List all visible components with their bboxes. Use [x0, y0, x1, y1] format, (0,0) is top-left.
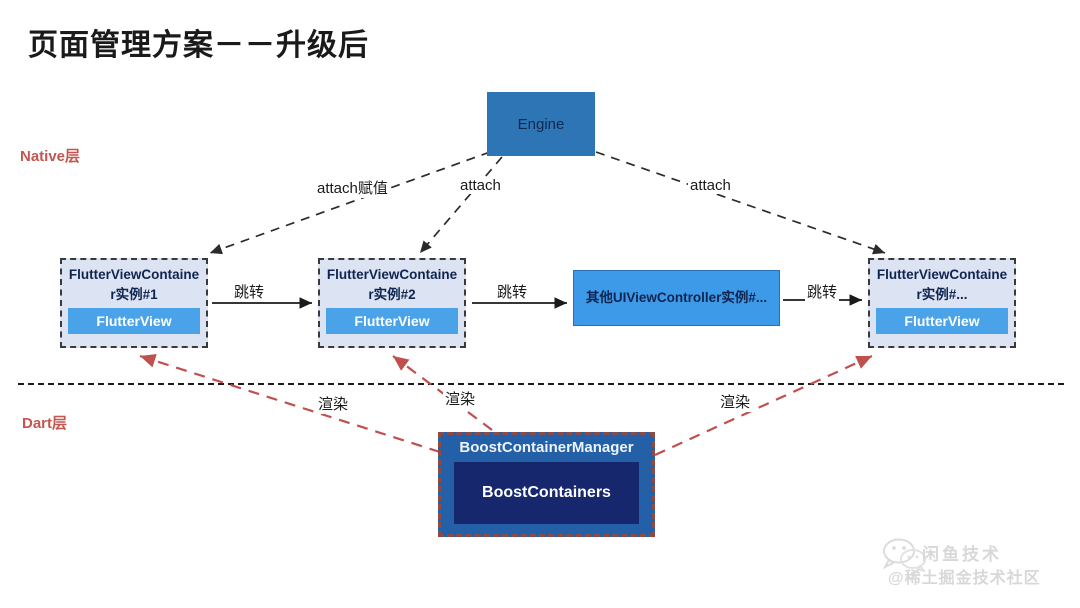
- watermark-line-1: 闲鱼技术: [922, 540, 1002, 565]
- node-flutterview-n[interactable]: FlutterView: [876, 308, 1008, 334]
- node-engine-label: Engine: [518, 116, 565, 133]
- watermark: 闲鱼技术 @稀土掘金技术社区: [880, 536, 1070, 598]
- node-engine[interactable]: Engine: [487, 92, 595, 156]
- node-boost-containers[interactable]: BoostContainers: [454, 462, 639, 524]
- edge-render-left: [140, 356, 440, 452]
- edge-attach-mid: [420, 157, 502, 253]
- node-flutterview-2[interactable]: FlutterView: [326, 308, 458, 334]
- page-title: 页面管理方案－－升级后: [28, 20, 369, 64]
- node-flutterview-container-1-title: FlutterViewContainer实例#1: [67, 265, 201, 304]
- node-flutterview-container-n-title: FlutterViewContainer实例#...: [875, 265, 1009, 304]
- edge-label-attach-right: attach: [688, 177, 733, 194]
- edge-label-jump-2: 跳转: [495, 281, 529, 302]
- edge-label-render-right: 渲染: [718, 391, 752, 412]
- watermark-line-2: @稀土掘金技术社区: [888, 564, 1041, 588]
- node-boost-container-manager[interactable]: BoostContainerManager BoostContainers: [438, 432, 655, 537]
- diagram-canvas: 页面管理方案－－升级后 Native层 Dart层: [0, 0, 1080, 608]
- node-flutterview-container-2[interactable]: FlutterViewContainer实例#2 FlutterView: [318, 258, 466, 348]
- node-other-uiviewcontroller-label: 其他UIViewController实例#...: [582, 288, 772, 308]
- node-other-uiviewcontroller[interactable]: 其他UIViewController实例#...: [573, 270, 780, 326]
- edge-label-attach-assign: attach赋值: [315, 177, 390, 198]
- edge-label-attach-mid: attach: [458, 177, 503, 194]
- edge-label-render-mid: 渲染: [443, 388, 477, 409]
- layer-label-native: Native层: [20, 145, 80, 166]
- node-flutterview-container-n[interactable]: FlutterViewContainer实例#... FlutterView: [868, 258, 1016, 348]
- node-flutterview-container-2-title: FlutterViewContainer实例#2: [325, 265, 459, 304]
- edge-label-jump-3: 跳转: [805, 281, 839, 302]
- edge-attach-right: [596, 152, 885, 253]
- edge-label-render-left: 渲染: [316, 393, 350, 414]
- edge-label-jump-1: 跳转: [232, 281, 266, 302]
- node-boost-container-manager-title: BoostContainerManager: [459, 439, 633, 456]
- layer-divider: [18, 383, 1064, 385]
- node-flutterview-container-1[interactable]: FlutterViewContainer实例#1 FlutterView: [60, 258, 208, 348]
- edge-attach-assign: [210, 152, 490, 253]
- layer-label-dart: Dart层: [22, 412, 67, 433]
- node-flutterview-1[interactable]: FlutterView: [68, 308, 200, 334]
- edge-render-right: [655, 356, 872, 455]
